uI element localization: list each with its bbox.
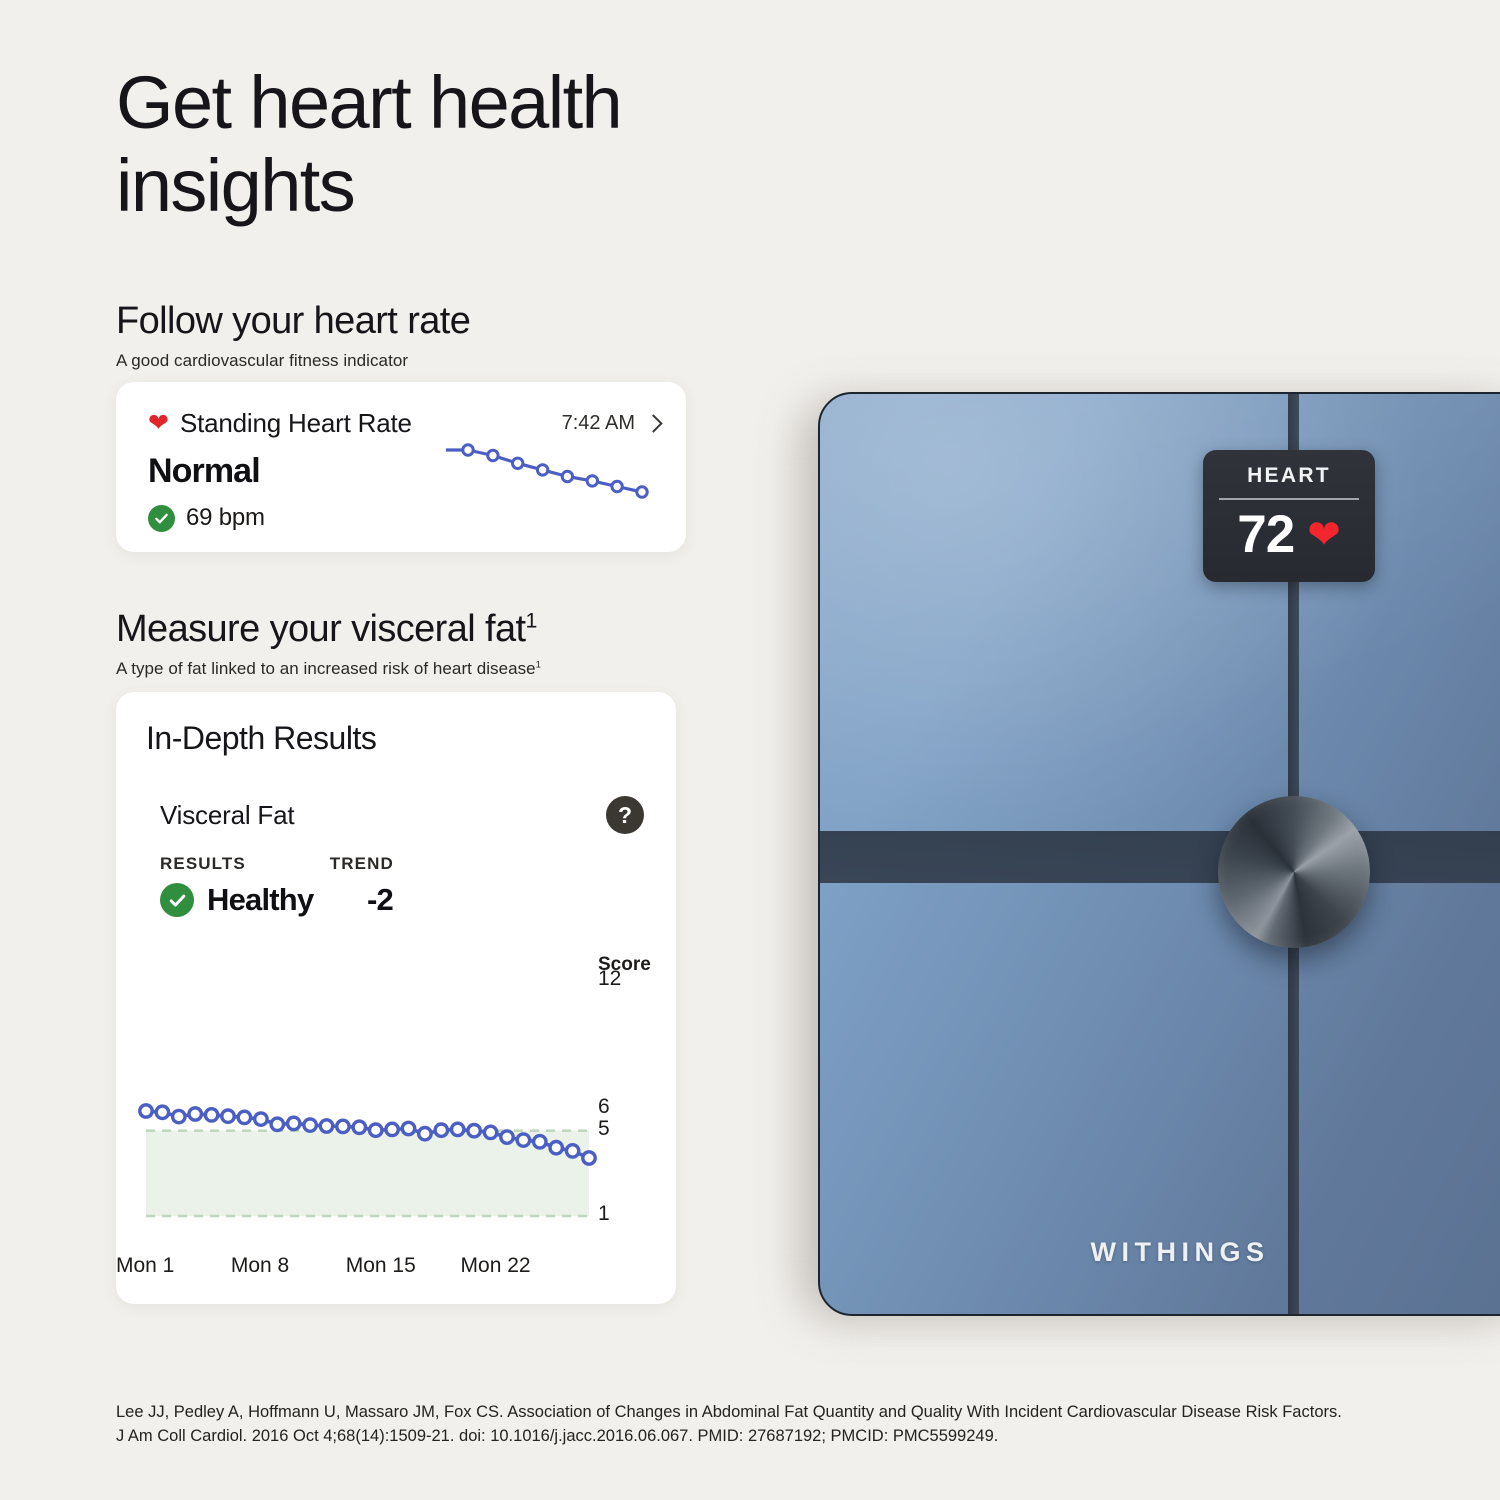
vf-card-title: In-Depth Results	[146, 720, 376, 757]
footnote-marker-sub: 1	[536, 659, 541, 670]
chart-data-point	[402, 1122, 414, 1134]
vf-trend-value: -2	[367, 882, 393, 918]
chart-data-point	[517, 1134, 529, 1146]
promo-page: Get heart health insights Follow your he…	[0, 0, 1500, 1500]
card-header: ❤ Standing Heart Rate 7:42 AM	[148, 408, 660, 439]
vf-metric-title: Visceral Fat	[160, 800, 294, 831]
visceral-section-title: Measure your visceral fat1	[116, 608, 756, 651]
hero-block: Get heart health insights	[116, 62, 716, 228]
citation-footnote: Lee JJ, Pedley A, Hoffmann U, Massaro JM…	[116, 1401, 1436, 1449]
chart-data-point	[534, 1136, 546, 1148]
chart-plot-area	[134, 954, 604, 1254]
chart-data-point	[189, 1108, 201, 1120]
chart-data-point	[550, 1142, 562, 1154]
sparkline-data-point	[463, 445, 473, 455]
display-value-row: 72 ❤	[1203, 508, 1375, 561]
visceral-section-heading: Measure your visceral fat1 A type of fat…	[116, 608, 756, 679]
chart-data-point	[271, 1118, 283, 1130]
bpm-value: 69 bpm	[186, 504, 265, 532]
chart-data-point	[419, 1128, 431, 1140]
heart-rate-sparkline	[446, 440, 651, 502]
chart-data-point	[320, 1120, 332, 1132]
visceral-subtitle-text: A type of fat linked to an increased ris…	[116, 659, 536, 678]
vf-result-group: Healthy	[160, 882, 302, 918]
vf-values-row: Healthy -2	[160, 882, 393, 918]
hero-line-2: insights	[116, 144, 354, 227]
x-tick-mon-8: Mon 8	[231, 1254, 289, 1278]
y-tick-12: 12	[598, 967, 621, 991]
chart-data-point	[255, 1113, 267, 1125]
device-heart-display: HEART 72 ❤	[1203, 450, 1375, 582]
sparkline-data-point	[513, 458, 523, 468]
page-title: Get heart health insights	[116, 62, 716, 228]
footnote-marker: 1	[526, 608, 537, 632]
heart-section-heading: Follow your heart rate A good cardiovasc…	[116, 300, 756, 371]
status-text: Normal	[148, 452, 260, 491]
standing-heart-rate-card[interactable]: ❤ Standing Heart Rate 7:42 AM Normal 69 …	[116, 382, 686, 552]
in-depth-results-card[interactable]: In-Depth Results Visceral Fat ? RESULTS …	[116, 692, 676, 1304]
visceral-fat-chart: Score 12 6 5 1 Mon 1 Mon 8 Mon 15 Mon 22	[134, 954, 658, 1284]
sparkline-data-point	[488, 450, 498, 460]
sparkline-data-point	[537, 465, 547, 475]
chart-data-point	[566, 1145, 578, 1157]
chart-y-axis: Score 12 6 5 1	[592, 954, 658, 1254]
chart-data-point	[140, 1105, 152, 1117]
visceral-section-subtitle: A type of fat linked to an increased ris…	[116, 659, 756, 679]
timestamp-group[interactable]: 7:42 AM	[562, 412, 660, 435]
hero-line-1: Get heart health	[116, 61, 621, 144]
chevron-right-icon[interactable]	[644, 414, 662, 432]
bpm-row: 69 bpm	[148, 504, 265, 532]
chart-data-point	[304, 1119, 316, 1131]
chart-data-point	[337, 1120, 349, 1132]
chart-data-point	[288, 1117, 300, 1129]
chart-data-point	[484, 1126, 496, 1138]
chart-data-point	[222, 1110, 234, 1122]
display-label: HEART	[1203, 464, 1375, 488]
heart-section-title: Follow your heart rate	[116, 300, 756, 343]
heart-icon: ❤	[1307, 515, 1341, 555]
y-tick-5: 5	[598, 1117, 610, 1141]
chart-data-point	[205, 1109, 217, 1121]
brand-logo: WITHINGS	[820, 1237, 1500, 1268]
chart-data-point	[353, 1121, 365, 1133]
heart-section-subtitle: A good cardiovascular fitness indicator	[116, 351, 756, 371]
chart-data-point	[452, 1123, 464, 1135]
card-title: Standing Heart Rate	[180, 408, 412, 439]
check-circle-icon	[160, 883, 194, 917]
chart-data-point	[173, 1110, 185, 1122]
chart-data-point	[370, 1124, 382, 1136]
chart-data-point	[435, 1124, 447, 1136]
check-circle-icon	[148, 505, 175, 532]
citation-line-1: Lee JJ, Pedley A, Hoffmann U, Massaro JM…	[116, 1401, 1436, 1425]
sparkline-data-point	[562, 471, 572, 481]
vf-result-value: Healthy	[207, 882, 313, 918]
heart-icon: ❤	[148, 411, 169, 436]
help-icon[interactable]: ?	[606, 796, 644, 834]
y-tick-1: 1	[598, 1202, 610, 1226]
device-center-dial	[1218, 796, 1370, 948]
vf-column-headers: RESULTS TREND	[160, 854, 394, 874]
column-header-trend: TREND	[330, 854, 394, 874]
sparkline-data-point	[637, 487, 647, 497]
x-tick-mon-15: Mon 15	[346, 1254, 416, 1278]
chart-data-point	[468, 1125, 480, 1137]
timestamp: 7:42 AM	[562, 412, 635, 435]
x-tick-mon-22: Mon 22	[461, 1254, 531, 1278]
sparkline-data-point	[587, 476, 597, 486]
citation-line-2: J Am Coll Cardiol. 2016 Oct 4;68(14):150…	[116, 1425, 1436, 1449]
smart-scale-device: HEART 72 ❤ WITHINGS	[818, 392, 1500, 1316]
visceral-title-text: Measure your visceral fat	[116, 608, 526, 650]
display-bpm-number: 72	[1237, 508, 1294, 561]
chart-data-point	[501, 1131, 513, 1143]
display-divider	[1219, 498, 1359, 500]
chart-data-point	[238, 1111, 250, 1123]
chart-data-point	[156, 1106, 168, 1118]
sparkline-data-point	[612, 481, 622, 491]
x-tick-mon-1: Mon 1	[116, 1254, 174, 1278]
column-header-results: RESULTS	[160, 854, 246, 874]
device-horizontal-band	[820, 831, 1500, 883]
chart-x-axis: Mon 1 Mon 8 Mon 15 Mon 22	[134, 1254, 592, 1280]
chart-data-point	[386, 1123, 398, 1135]
